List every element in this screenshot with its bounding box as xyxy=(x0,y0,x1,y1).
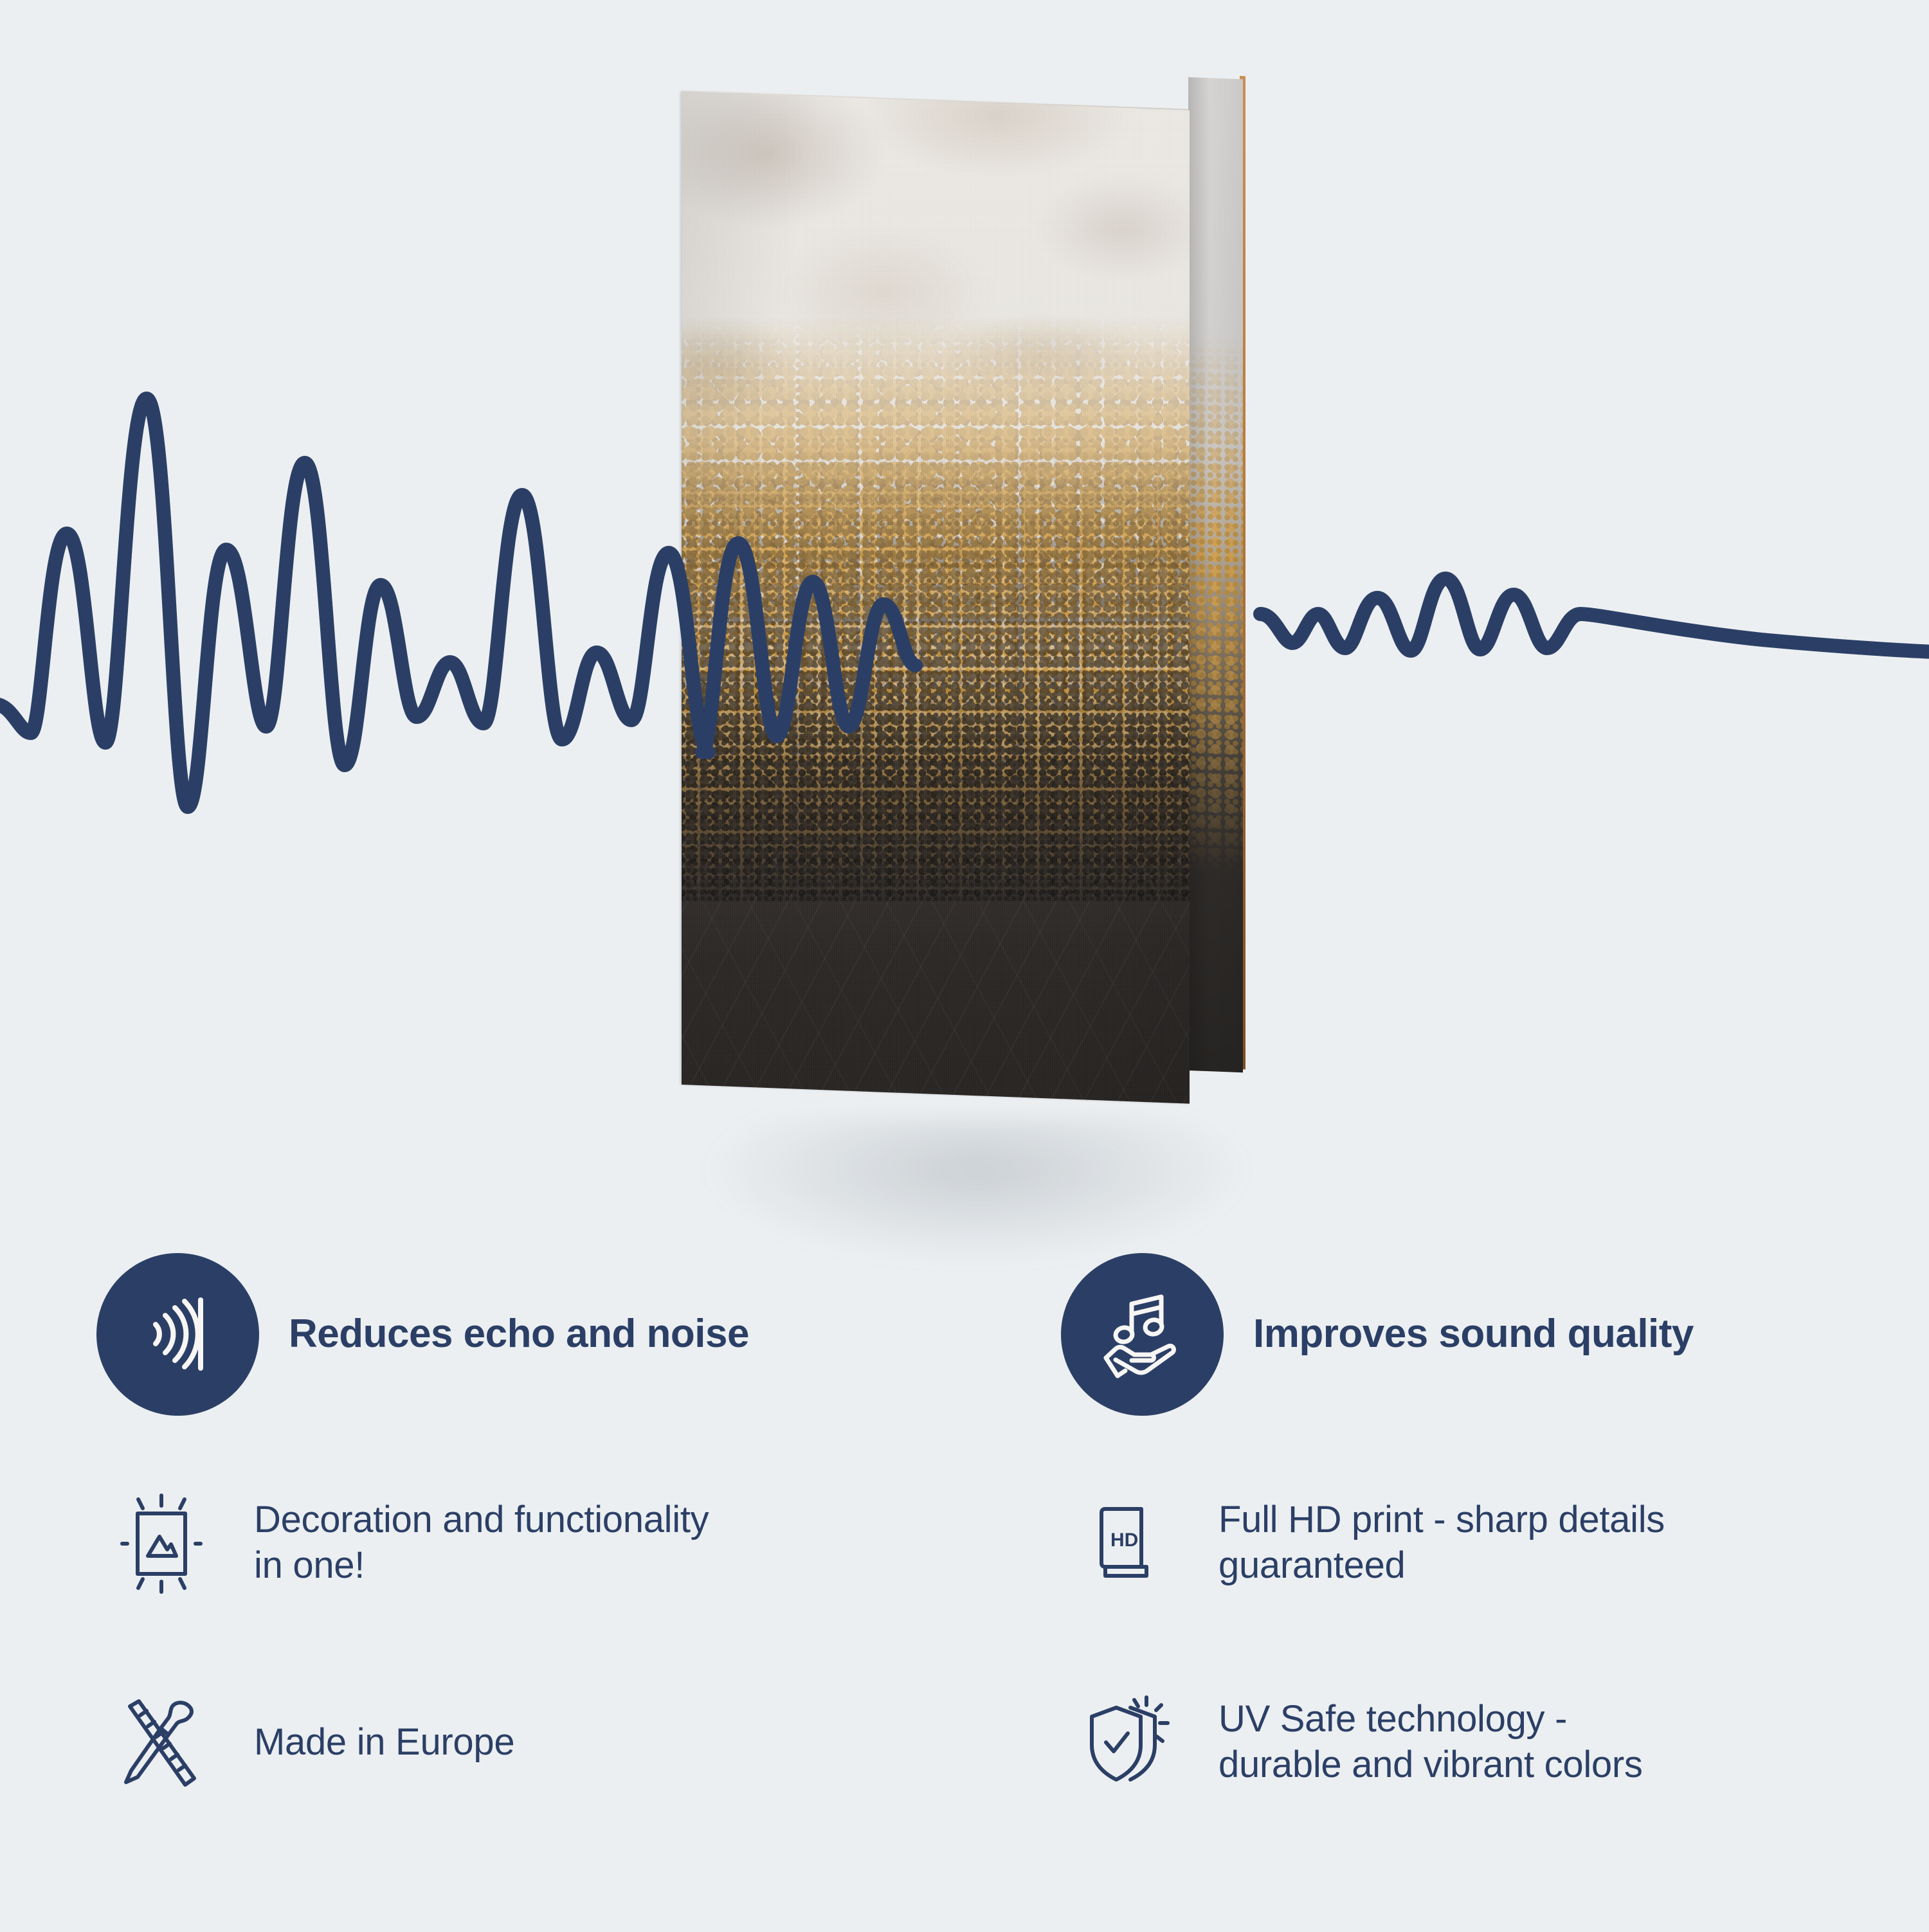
hd-print-icon: HD xyxy=(1061,1487,1190,1600)
waveform-right-path xyxy=(1260,579,1929,652)
feature-list: Reduces echo and noise xyxy=(0,1225,1929,1929)
artwork-side-shading xyxy=(1188,77,1243,1072)
feature-made-in-europe[interactable]: Made in Europe xyxy=(96,1643,1061,1842)
infographic-stage: Reduces echo and noise xyxy=(0,0,1929,1929)
feature-text-block: Decoration and functionality in one! xyxy=(254,1497,709,1589)
hand-holding-music-note-icon xyxy=(1061,1253,1224,1416)
feature-reduces-echo[interactable]: Reduces echo and noise xyxy=(96,1225,1061,1443)
hd-icon-text: HD xyxy=(1110,1530,1138,1551)
waveform-left-path xyxy=(0,399,709,807)
feature-text-block: Made in Europe xyxy=(254,1720,514,1765)
feature-line1: Decoration and functionality xyxy=(254,1497,709,1543)
feature-improves-sound[interactable]: Improves sound quality xyxy=(1061,1225,1871,1443)
artwork-vignette xyxy=(682,91,1190,1104)
feature-label: Reduces echo and noise xyxy=(289,1312,749,1356)
feature-line1: Full HD print - sharp details xyxy=(1218,1497,1665,1543)
artwork-front-face xyxy=(682,91,1190,1104)
feature-label: Improves sound quality xyxy=(1253,1312,1694,1356)
feature-decoration-functionality[interactable]: Decoration and functionality in one! xyxy=(96,1443,1061,1643)
feature-line2: guaranteed xyxy=(1218,1543,1665,1589)
feature-line1: UV Safe technology - xyxy=(1218,1697,1643,1742)
shield-check-sun-icon xyxy=(1061,1686,1190,1799)
feature-uv-safe[interactable]: UV Safe technology - durable and vibrant… xyxy=(1061,1643,1871,1842)
artwork-side-panel xyxy=(1188,77,1243,1072)
feature-line2: durable and vibrant colors xyxy=(1218,1742,1643,1788)
sound-waves-absorbed-icon xyxy=(96,1253,259,1416)
feature-full-hd-print[interactable]: HD Full HD print - sharp details guarant… xyxy=(1061,1443,1871,1643)
feature-text-block: UV Safe technology - durable and vibrant… xyxy=(1218,1697,1643,1788)
shining-picture-frame-icon xyxy=(96,1487,225,1600)
feature-grid: Reduces echo and noise xyxy=(96,1225,1871,1842)
feature-line2: in one! xyxy=(254,1543,709,1589)
canvas-artwork xyxy=(669,64,1273,1234)
artwork-front-inner xyxy=(682,91,1190,1104)
feature-text-block: Full HD print - sharp details guaranteed xyxy=(1218,1497,1665,1589)
ruler-and-hammer-icon xyxy=(96,1686,225,1799)
feature-line1: Made in Europe xyxy=(254,1720,514,1765)
